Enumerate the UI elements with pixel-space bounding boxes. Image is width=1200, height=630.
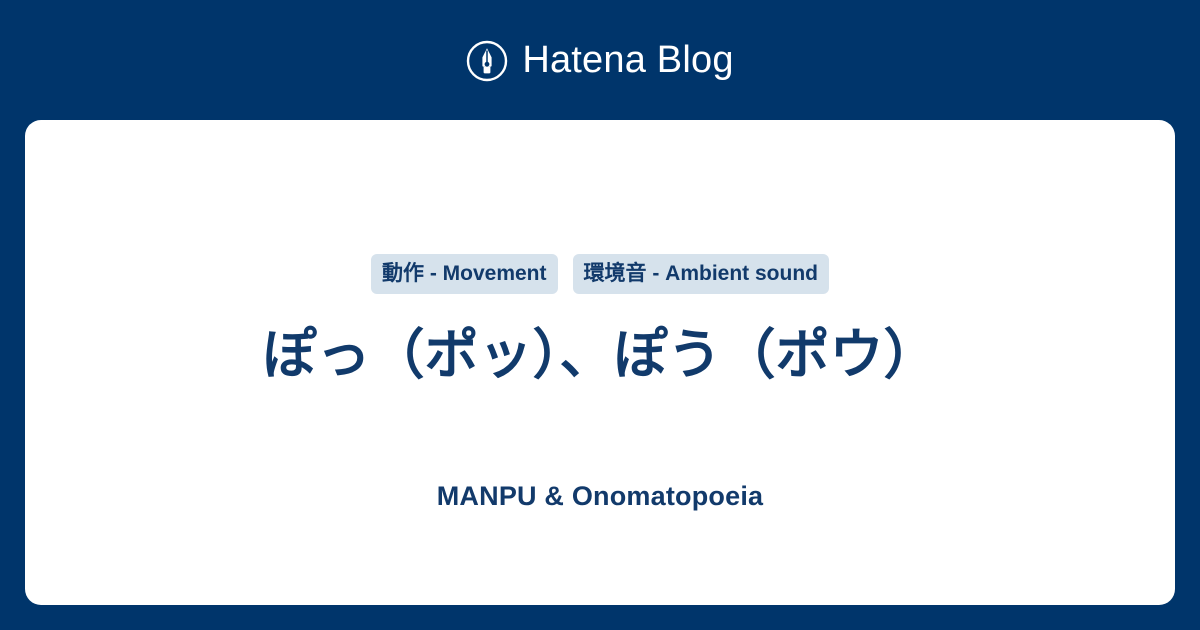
- category-badge-list: 動作 - Movement 環境音 - Ambient sound: [371, 254, 829, 294]
- entry-card-inner: 動作 - Movement 環境音 - Ambient sound ぽっ（ポッ）…: [25, 120, 1175, 510]
- blog-name: MANPU & Onomatopoeia: [437, 483, 764, 510]
- entry-title: ぽっ（ポッ）、ぽう（ポウ）: [263, 322, 938, 390]
- category-badge-ambient-sound[interactable]: 環境音 - Ambient sound: [573, 254, 830, 294]
- ogp-card-root: Hatena Blog 動作 - Movement 環境音 - Ambient …: [0, 0, 1200, 630]
- entry-card: 動作 - Movement 環境音 - Ambient sound ぽっ（ポッ）…: [25, 120, 1175, 605]
- category-badge-movement[interactable]: 動作 - Movement: [371, 254, 558, 294]
- brand-name: Hatena Blog: [522, 41, 733, 79]
- brand-header: Hatena Blog: [0, 0, 1200, 120]
- hatena-pen-nib-icon: [466, 40, 508, 82]
